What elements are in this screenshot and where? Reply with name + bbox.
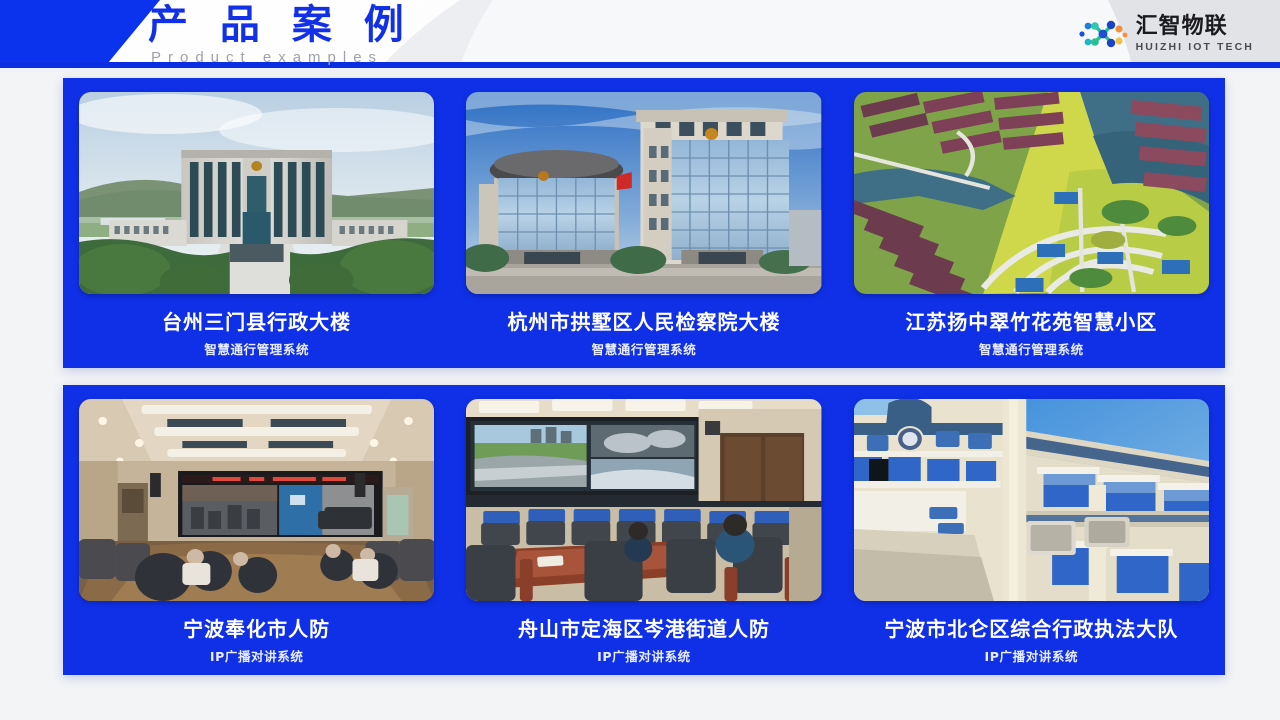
brand-logo: 汇智物联 HUIZHI IOT TECH (1078, 14, 1254, 54)
page-title-cn: 产 品 案 例 (148, 2, 413, 48)
case-title: 杭州市拱墅区人民检察院大楼 (507, 310, 780, 334)
case-subtitle: IP广播对讲系统 (985, 649, 1079, 665)
conference-room-videowall-photo (79, 399, 434, 601)
case-subtitle: 智慧通行管理系统 (979, 342, 1084, 358)
case-subtitle: IP广播对讲系统 (597, 649, 691, 665)
header-blue-wedge (0, 0, 160, 62)
case-thumbnail[interactable] (466, 399, 821, 601)
case-card[interactable]: 台州三门县行政大楼 智慧通行管理系统 (63, 78, 450, 368)
brand-logo-text: 汇智物联 HUIZHI IOT TECH (1136, 16, 1254, 53)
molecule-network-icon (1078, 14, 1128, 54)
panel-bottom: 宁波奉化市人防 IP广播对讲系统 (63, 385, 1225, 675)
case-subtitle: 智慧通行管理系统 (204, 342, 309, 358)
case-thumbnail[interactable] (854, 92, 1209, 294)
card-row-top: 台州三门县行政大楼 智慧通行管理系统 (63, 78, 1225, 368)
case-card[interactable]: 舟山市定海区岑港街道人防 IP广播对讲系统 (450, 385, 837, 675)
case-thumbnail[interactable] (466, 92, 821, 294)
case-subtitle: IP广播对讲系统 (210, 649, 304, 665)
page-title-en: Product examples (148, 48, 413, 68)
case-title: 宁波市北仑区综合行政执法大队 (884, 617, 1178, 641)
case-thumbnail[interactable] (79, 92, 434, 294)
case-card[interactable]: 杭州市拱墅区人民检察院大楼 智慧通行管理系统 (450, 78, 837, 368)
slide-root: 产 品 案 例 Product examples (0, 0, 1280, 720)
brand-name-cn: 汇智物联 (1136, 16, 1254, 38)
case-title: 宁波奉化市人防 (183, 617, 330, 641)
case-card[interactable]: 宁波奉化市人防 IP广播对讲系统 (63, 385, 450, 675)
page-title: 产 品 案 例 Product examples (148, 2, 413, 68)
aerial-residential-community-photo (854, 92, 1209, 294)
card-row-bottom: 宁波奉化市人防 IP广播对讲系统 (63, 385, 1225, 675)
case-card[interactable]: 宁波市北仑区综合行政执法大队 IP广播对讲系统 (838, 385, 1225, 675)
procuratorate-glass-building-photo (466, 92, 821, 294)
brand-name-en: HUIZHI IOT TECH (1136, 42, 1254, 53)
government-office-building-photo (79, 92, 434, 294)
case-subtitle: 智慧通行管理系统 (592, 342, 697, 358)
case-thumbnail[interactable] (79, 399, 434, 601)
case-title: 舟山市定海区岑港街道人防 (518, 617, 770, 641)
case-title: 江苏扬中翠竹花苑智慧小区 (905, 310, 1157, 334)
header-underline (0, 68, 1280, 72)
case-thumbnail[interactable] (854, 399, 1209, 601)
case-card[interactable]: 江苏扬中翠竹花苑智慧小区 智慧通行管理系统 (838, 78, 1225, 368)
enforcement-department-building-photo (854, 399, 1209, 601)
command-center-videowall-photo (466, 399, 821, 601)
panel-top: 台州三门县行政大楼 智慧通行管理系统 (63, 78, 1225, 368)
case-title: 台州三门县行政大楼 (162, 310, 351, 334)
